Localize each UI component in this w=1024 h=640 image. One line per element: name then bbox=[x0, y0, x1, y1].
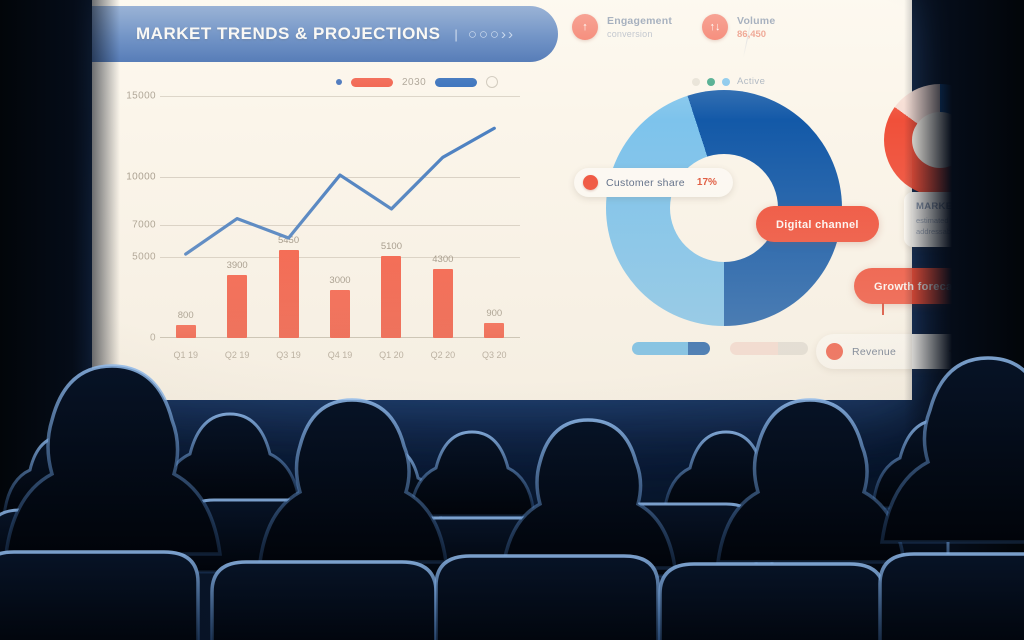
callout-dot-icon bbox=[583, 175, 598, 190]
kpi-volume-value: 86,450 bbox=[737, 29, 775, 40]
callout-customer-share[interactable]: Customer share 17% bbox=[574, 168, 733, 197]
legend-swatch-2 bbox=[722, 78, 730, 86]
page-title: MARKET TRENDS & PROJECTIONS bbox=[136, 24, 440, 44]
presentation-scene: MARKET TRENDS & PROJECTIONS | ○○○›› ↑ En… bbox=[0, 0, 1024, 640]
projection-screen: MARKET TRENDS & PROJECTIONS | ○○○›› ↑ En… bbox=[92, 0, 912, 400]
line-chart-legend: 2030 bbox=[336, 76, 498, 88]
callout-digital-channel[interactable]: Digital channel bbox=[756, 206, 879, 242]
kpi-row: ↑ Engagement conversion ↑↓ Volume 86,450 bbox=[572, 14, 902, 66]
legend-swatch-1 bbox=[707, 78, 715, 86]
chart-up-icon: ↑ bbox=[572, 14, 598, 40]
legend-swatch-0 bbox=[692, 78, 700, 86]
callout-customer-share-label: Customer share bbox=[606, 177, 685, 189]
legend-pill-red[interactable] bbox=[351, 78, 393, 87]
plot-area: 0500070001000015000800Q1 193900Q2 195450… bbox=[160, 96, 520, 338]
header-pagination-dots[interactable]: ○○○›› bbox=[468, 26, 515, 43]
donut-panel: Customer share 17% Digital channel Growt… bbox=[544, 86, 900, 376]
callout-customer-share-value: 17% bbox=[697, 177, 717, 188]
kpi-volume-label: Volume bbox=[737, 15, 775, 27]
kpi-engagement-label: Engagement bbox=[607, 15, 672, 27]
header-separator: | bbox=[454, 27, 457, 42]
kpi-volume[interactable]: ↑↓ Volume 86,450 bbox=[702, 14, 775, 66]
growth-line-series bbox=[160, 96, 520, 338]
audience-silhouettes bbox=[0, 350, 1024, 640]
legend-dot-icon bbox=[336, 79, 342, 85]
legend-ring-icon bbox=[486, 76, 498, 88]
callout-tail bbox=[882, 303, 884, 315]
kpi-engagement-sublabel: conversion bbox=[607, 29, 672, 39]
callout-digital-channel-label: Digital channel bbox=[776, 219, 859, 231]
kpi-engagement[interactable]: ↑ Engagement conversion bbox=[572, 14, 672, 66]
legend-year-label: 2030 bbox=[402, 77, 426, 88]
combo-chart-panel: 2030 0500070001000015000800Q1 193900Q2 1… bbox=[104, 72, 524, 372]
audience-row-front bbox=[6, 358, 1024, 568]
audience-svg bbox=[0, 350, 1024, 640]
users-icon: ↑↓ bbox=[702, 14, 728, 40]
legend-pill-blue[interactable] bbox=[435, 78, 477, 87]
dashboard-header-banner: MARKET TRENDS & PROJECTIONS | ○○○›› bbox=[92, 6, 558, 62]
